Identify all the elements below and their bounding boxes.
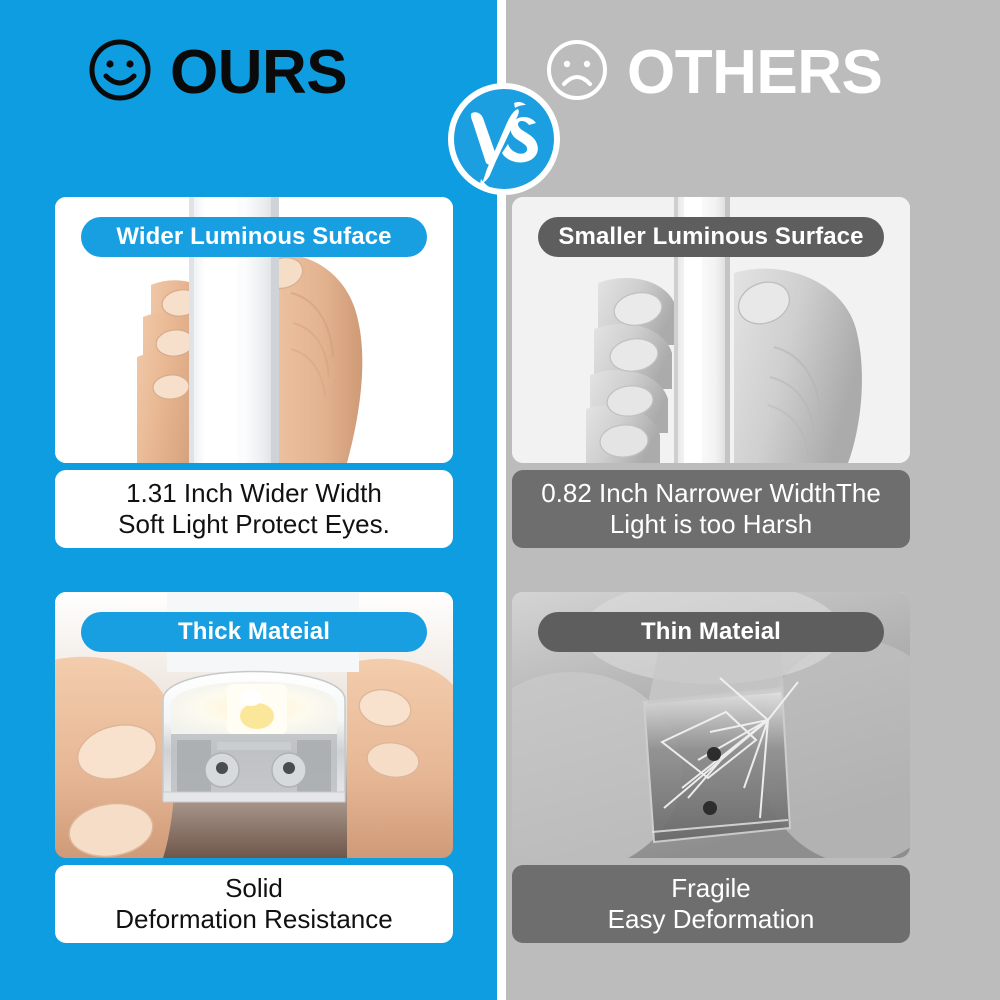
- ours-feature-1-caption: 1.31 Inch Wider Width Soft Light Protect…: [55, 470, 453, 548]
- others-feature-2: Thin Mateial Fragile Easy Deformation: [512, 592, 910, 943]
- others-feature-1: Smaller Luminous Surface 0.82 Inch Narro…: [512, 197, 910, 548]
- comparison-infographic: OURS: [0, 0, 1000, 1000]
- ours-title: OURS: [170, 42, 347, 104]
- ours-feature-2-pill-label: Thick Mateial: [178, 618, 330, 646]
- ours-header: OURS: [88, 38, 347, 107]
- hand-holding-narrow-led-tube-photo: Smaller Luminous Surface: [512, 197, 910, 463]
- vs-badge-icon: [448, 83, 560, 195]
- others-feature-1-pill-label: Smaller Luminous Surface: [558, 223, 863, 251]
- others-feature-1-caption-text: 0.82 Inch Narrower WidthThe Light is too…: [541, 478, 881, 539]
- others-header: OTHERS: [545, 38, 882, 107]
- others-feature-2-pill-label: Thin Mateial: [641, 618, 781, 646]
- hand-holding-thick-led-endcap-photo: Thick Mateial: [55, 592, 453, 858]
- ours-feature-2: Thick Mateial Solid Deformation Resistan…: [55, 592, 453, 943]
- ours-feature-2-pill: Thick Mateial: [81, 612, 427, 652]
- others-feature-2-caption: Fragile Easy Deformation: [512, 865, 910, 943]
- panel-ours: OURS: [0, 0, 497, 1000]
- ours-feature-2-caption-text: Solid Deformation Resistance: [115, 873, 392, 934]
- others-feature-2-caption-text: Fragile Easy Deformation: [608, 873, 815, 934]
- ours-feature-1-caption-text: 1.31 Inch Wider Width Soft Light Protect…: [118, 478, 390, 539]
- others-feature-1-pill: Smaller Luminous Surface: [538, 217, 884, 257]
- ours-feature-2-caption: Solid Deformation Resistance: [55, 865, 453, 943]
- hand-holding-wide-led-tube-photo: Wider Luminous Suface: [55, 197, 453, 463]
- ours-feature-1: Wider Luminous Suface 1.31 Inch Wider Wi…: [55, 197, 453, 548]
- cracked-thin-led-endcap-photo: Thin Mateial: [512, 592, 910, 858]
- others-feature-1-caption: 0.82 Inch Narrower WidthThe Light is too…: [512, 470, 910, 548]
- ours-feature-1-pill: Wider Luminous Suface: [81, 217, 427, 257]
- others-feature-2-pill: Thin Mateial: [538, 612, 884, 652]
- smiley-happy-face-icon: [88, 38, 152, 107]
- others-title: OTHERS: [627, 42, 882, 104]
- panel-others: OTHERS: [506, 0, 1000, 1000]
- ours-feature-1-pill-label: Wider Luminous Suface: [116, 223, 391, 251]
